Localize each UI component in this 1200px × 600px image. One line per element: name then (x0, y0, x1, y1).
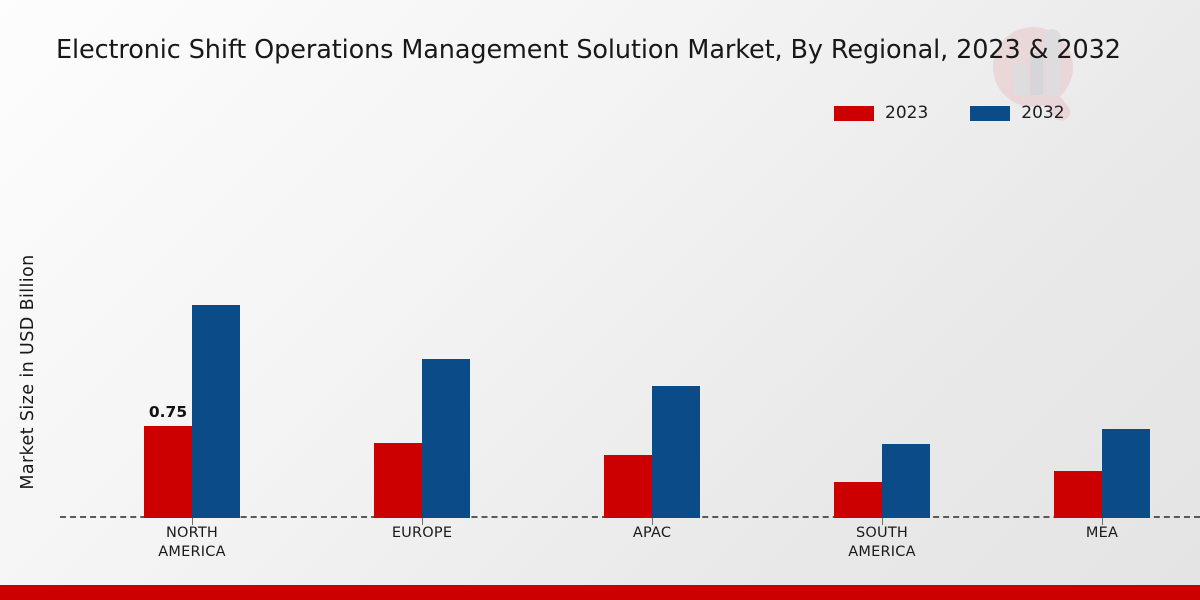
y-axis-title: Market Size in USD Billion (18, 202, 38, 542)
x-label-south-america: SOUTH AMERICA (782, 524, 982, 562)
legend-item-2023[interactable]: 2023 (834, 103, 928, 123)
x-label-apac: APAC (552, 524, 752, 543)
bar-2023-north-america[interactable]: 0.75 (144, 426, 192, 518)
bar-2032-mea[interactable] (1102, 429, 1150, 519)
chart-figure: Electronic Shift Operations Management S… (0, 0, 1200, 600)
bar-value-2023-north-america: 0.75 (149, 403, 187, 421)
watermark-bar-1 (1014, 65, 1027, 95)
legend-label-2032: 2032 (1021, 103, 1064, 123)
chart-title: Electronic Shift Operations Management S… (56, 33, 1200, 67)
bar-2023-europe[interactable] (374, 443, 422, 518)
legend-swatch-2032 (970, 106, 1010, 121)
bar-group-europe: EUROPE (322, 160, 522, 518)
bars-mea (1002, 160, 1200, 518)
bars-north-america: 0.75 (92, 160, 292, 518)
bar-group-apac: APAC (552, 160, 752, 518)
legend-item-2032[interactable]: 2032 (970, 103, 1064, 123)
bar-2032-europe[interactable] (422, 359, 470, 518)
bar-2032-apac[interactable] (652, 386, 700, 518)
x-label-mea: MEA (1002, 524, 1200, 543)
bar-2023-south-america[interactable] (834, 482, 882, 518)
plot-area: 0.75 NORTH AMERICA EUROPE APAC (60, 160, 1200, 518)
legend-label-2023: 2023 (885, 103, 928, 123)
bars-europe (322, 160, 522, 518)
bars-apac (552, 160, 752, 518)
bars-south-america (782, 160, 982, 518)
bar-2032-south-america[interactable] (882, 444, 930, 518)
footer-accent-bar (0, 585, 1200, 600)
bar-group-north-america: 0.75 NORTH AMERICA (92, 160, 292, 518)
bar-2023-mea[interactable] (1054, 471, 1102, 518)
bar-2032-north-america[interactable] (192, 305, 240, 518)
bar-2023-apac[interactable] (604, 455, 652, 518)
bar-group-mea: MEA (1002, 160, 1200, 518)
x-label-north-america: NORTH AMERICA (92, 524, 292, 562)
x-label-europe: EUROPE (322, 524, 522, 543)
legend-swatch-2023 (834, 106, 874, 121)
chart-legend: 2023 2032 (834, 103, 1065, 123)
bar-group-south-america: SOUTH AMERICA (782, 160, 982, 518)
